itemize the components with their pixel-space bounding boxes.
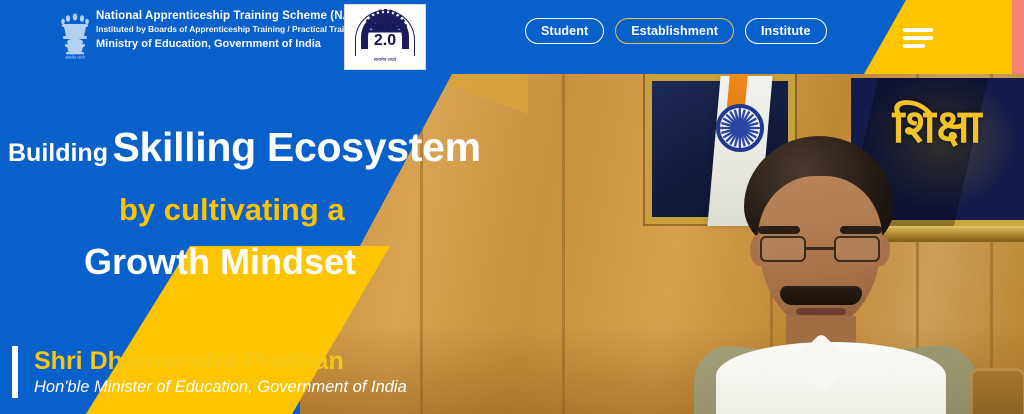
headline-line-2: by cultivating a xyxy=(119,192,345,228)
nats-version: 2.0 xyxy=(354,33,416,49)
org-subtitle: Instituted by Boards of Apprenticeship T… xyxy=(96,23,369,36)
nav-button-institute[interactable]: Institute xyxy=(745,18,827,44)
headline-main: Skilling Ecosystem xyxy=(112,124,480,170)
org-ministry: Ministry of Education, Government of Ind… xyxy=(96,37,369,52)
hamburger-menu-icon[interactable] xyxy=(903,28,933,48)
header-org-text: National Apprenticeship Training Scheme … xyxy=(96,9,369,52)
header-edge-strip xyxy=(1012,0,1024,74)
nats-logo[interactable]: NATS 2.0 सत्यमेव जयते xyxy=(344,4,426,70)
speaker-role: Hon'ble Minister of Education, Governmen… xyxy=(34,376,407,398)
minister-portrait-icon xyxy=(670,136,1024,414)
svg-text:सत्यमेव जयते: सत्यमेव जयते xyxy=(65,55,85,60)
chair-back xyxy=(970,368,1024,414)
speaker-name: Shri Dharmendra Pradhan xyxy=(34,346,407,376)
hero-content: Building Skilling Ecosystem by cultivati… xyxy=(0,74,520,414)
nav-button-student[interactable]: Student xyxy=(525,18,604,44)
headline-lead: Building xyxy=(8,139,108,167)
site-header: सत्यमेव जयते National Apprenticeship Tra… xyxy=(0,0,1024,74)
speaker-credit: Shri Dharmendra Pradhan Hon'ble Minister… xyxy=(12,346,407,398)
header-accent-shape xyxy=(864,0,1024,74)
nats-motto: सत्यमेव जयते xyxy=(374,57,396,63)
headline-line-3: Growth Mindset xyxy=(84,241,356,283)
org-name: National Apprenticeship Training Scheme … xyxy=(96,9,369,23)
hero-banner: शिक्षा xyxy=(0,0,1024,414)
headline-line-1: Building Skilling Ecosystem xyxy=(8,124,481,171)
india-state-emblem-icon: सत्यमेव जयते xyxy=(58,9,92,61)
header-nav: Student Establishment Institute xyxy=(525,18,827,44)
eyeglasses-icon xyxy=(756,236,884,262)
nats-gear-icon: NATS 2.0 xyxy=(354,11,416,55)
nav-button-establishment[interactable]: Establishment xyxy=(615,18,734,44)
